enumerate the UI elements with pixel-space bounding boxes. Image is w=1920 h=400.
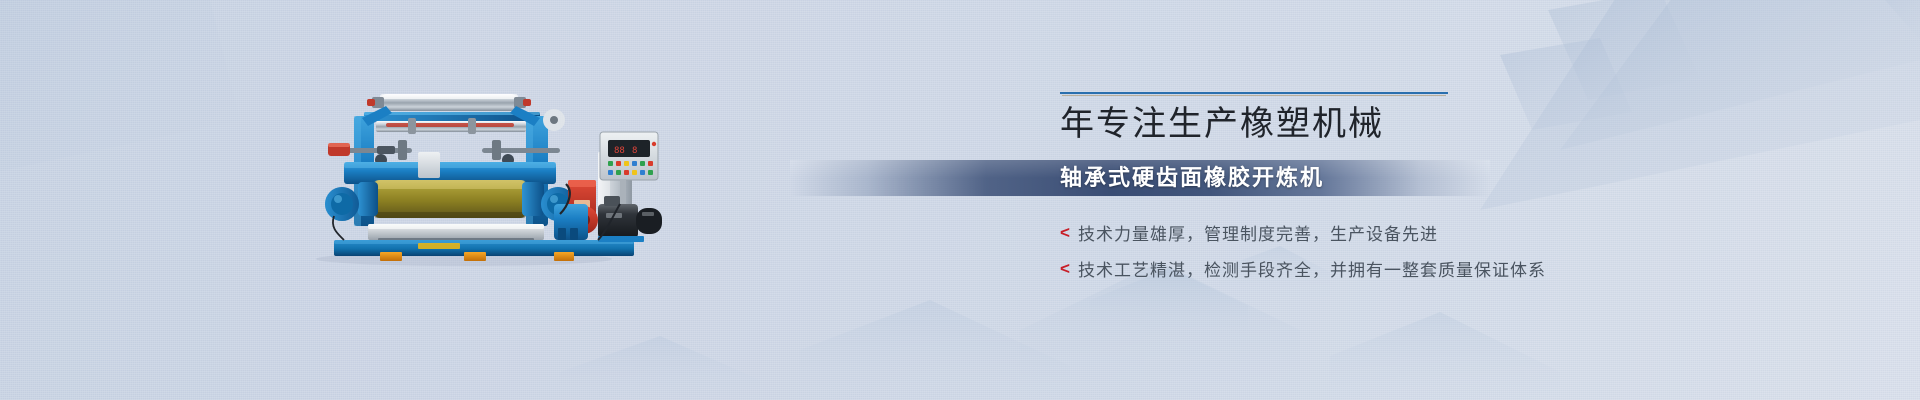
- subtitle-bar: 轴承式硬齿面橡胶开炼机: [790, 160, 1490, 196]
- banner-content: 年专注生产橡塑机械 轴承式硬齿面橡胶开炼机 < 技术力量雄厚，管理制度完善，生产…: [1060, 92, 1760, 322]
- list-item: < 技术工艺精湛，检测手段齐全，并拥有一整套质量保证体系: [1060, 250, 1546, 286]
- product-name: 轴承式硬齿面橡胶开炼机: [1060, 160, 1324, 196]
- feature-text: 技术工艺精湛，检测手段齐全，并拥有一整套质量保证体系: [1078, 256, 1546, 281]
- chevron-left-icon: <: [1060, 224, 1078, 241]
- feature-text: 技术力量雄厚，管理制度完善，生产设备先进: [1078, 220, 1438, 245]
- page-title: 年专注生产橡塑机械: [1060, 107, 1760, 144]
- divider-line-blue: [1060, 92, 1448, 94]
- headline-divider: [1060, 92, 1450, 98]
- svg-text:88: 88: [614, 146, 625, 156]
- chevron-left-icon: <: [1060, 260, 1078, 277]
- divider-line-tan: [1062, 95, 1446, 96]
- svg-text:8: 8: [632, 146, 637, 156]
- product-image: 88 8: [268, 88, 668, 266]
- list-item: < 技术力量雄厚，管理制度完善，生产设备先进: [1060, 214, 1546, 250]
- promo-banner: 88 8: [0, 0, 1920, 400]
- feature-list: < 技术力量雄厚，管理制度完善，生产设备先进 < 技术工艺精湛，检测手段齐全，并…: [1060, 214, 1546, 286]
